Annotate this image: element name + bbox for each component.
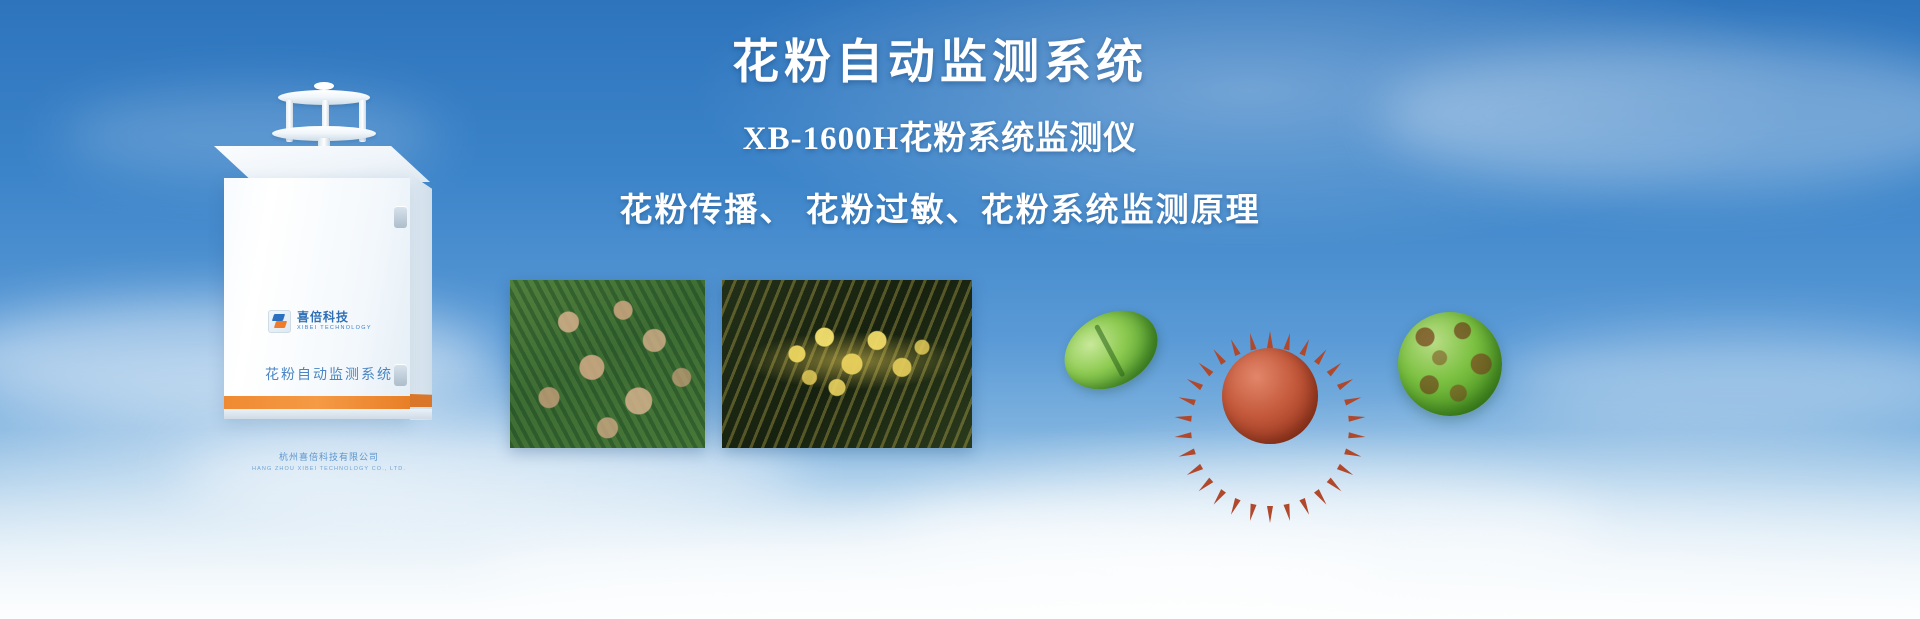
topics-subtitle: 花粉传播、 花粉过敏、花粉系统监测原理 — [560, 183, 1320, 231]
spiky-red-pollen-grain — [1222, 348, 1318, 444]
xibei-logo-icon — [268, 310, 291, 333]
pollen-spike-icon — [1314, 348, 1329, 365]
pollen-spike-icon — [1185, 376, 1203, 390]
pollen-spike-icon — [1211, 348, 1226, 365]
device-top-panel — [214, 146, 430, 182]
pollen-spike-icon — [1228, 338, 1240, 356]
pollen-spike-icon — [1344, 394, 1362, 405]
oval-green-pollen-grain — [1051, 295, 1171, 405]
warty-green-pollen-grain — [1398, 312, 1502, 416]
device-accent-stripe-side — [410, 394, 432, 407]
pollen-monitoring-banner: 花粉自动监测系统 XB-1600H花粉系统监测仪 花粉传播、 花粉过敏、花粉系统… — [0, 0, 1920, 619]
pollen-spike-icon — [1267, 331, 1273, 348]
device-accent-stripe — [224, 396, 410, 409]
device-company-en: HANG ZHOU XIBEI TECHNOLOGY CO., LTD. — [224, 466, 434, 472]
headline-block: 花粉自动监测系统 XB-1600H花粉系统监测仪 花粉传播、 花粉过敏、花粉系统… — [560, 34, 1320, 231]
product-model-subtitle: XB-1600H花粉系统监测仪 — [560, 111, 1320, 159]
latch-icon — [394, 364, 407, 386]
device-brand-logo: 喜倍科技 XIBEI TECHNOLOGY — [268, 310, 372, 333]
cloud-wisp — [1500, 330, 1920, 430]
brand-name-cn: 喜倍科技 — [297, 311, 372, 323]
device-company-cn: 杭州喜倍科技有限公司 — [224, 450, 434, 463]
latch-icon — [394, 206, 407, 228]
pollen-spike-icon — [1327, 361, 1344, 377]
pollen-spike-icon — [1348, 414, 1366, 422]
brand-name-en: XIBEI TECHNOLOGY — [297, 326, 372, 332]
yellow-catkin-pollen-photo — [722, 280, 972, 448]
pollen-spike-icon — [1283, 332, 1292, 350]
device-base — [224, 409, 432, 419]
cloud-wisp — [1380, 40, 1920, 190]
pollen-spike-icon — [1178, 394, 1196, 405]
device-front-panel: 喜倍科技 XIBEI TECHNOLOGY 花粉自动监测系统 XB-1600H … — [224, 178, 410, 418]
pollen-spike-icon — [1174, 414, 1192, 422]
pollen-spike-icon — [1337, 376, 1355, 390]
pollen-monitor-device: 喜倍科技 XIBEI TECHNOLOGY 花粉自动监测系统 XB-1600H … — [200, 78, 470, 428]
cypress-pollen-cones-photo — [510, 280, 705, 448]
pollen-spike-icon — [1299, 338, 1311, 356]
pollen-spike-icon — [1247, 332, 1256, 350]
pollen-spike-icon — [1267, 506, 1273, 523]
page-title: 花粉自动监测系统 — [560, 34, 1320, 89]
pollen-spike-icon — [1197, 361, 1214, 377]
sensor-cap-icon — [314, 82, 334, 90]
brand-text-block: 喜倍科技 XIBEI TECHNOLOGY — [297, 311, 372, 332]
